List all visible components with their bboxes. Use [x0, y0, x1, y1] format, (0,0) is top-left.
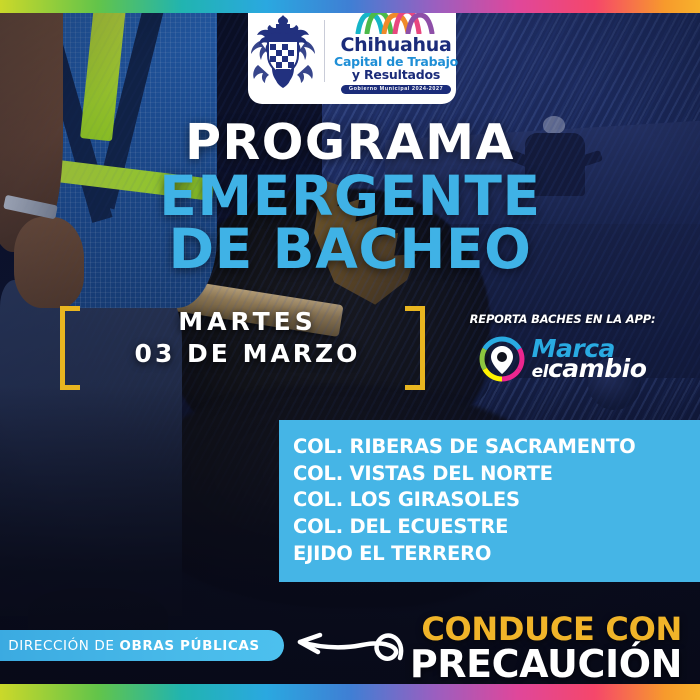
chihuahua-logo-card: Chihuahua Capital de Trabajo y Resultado… — [248, 0, 456, 104]
direccion-prefix: DIRECCIÓN DE — [8, 638, 119, 654]
app-name-el: el — [532, 362, 548, 382]
colonias-panel: COL. RIBERAS DE SACRAMENTO COL. VISTAS D… — [279, 420, 700, 582]
caution-line-2: PRECAUCIÓN — [410, 647, 682, 681]
list-item: EJIDO EL TERRERO — [293, 541, 700, 568]
date-weekday: MARTES — [100, 308, 395, 336]
date-day-month: 03 DE MARZO — [100, 340, 395, 368]
direccion-bold: OBRAS PÚBLICAS — [119, 638, 259, 654]
logo-divider — [324, 20, 325, 82]
headline-line-2: EMERGENTE — [0, 171, 700, 222]
coat-of-arms-icon — [246, 11, 320, 91]
app-label: REPORTA BACHES EN LA APP: — [465, 312, 660, 326]
location-pin-icon — [479, 336, 525, 382]
page-title: PROGRAMA EMERGENTE DE BACHEO — [0, 120, 700, 274]
headline-line-3: DE BACHEO — [0, 224, 700, 275]
rainbow-strip-top — [0, 0, 700, 13]
list-item: COL. RIBERAS DE SACRAMENTO — [293, 434, 700, 461]
caution-message: CONDUCE CON PRECAUCIÓN — [410, 615, 682, 681]
app-callout: REPORTA BACHES EN LA APP: Marca elcambio — [465, 312, 660, 382]
list-item: COL. LOS GIRASOLES — [293, 487, 700, 514]
app-name-cambio-word: cambio — [548, 354, 646, 383]
headline-line-1: PROGRAMA — [0, 120, 700, 165]
direccion-obras-publicas-badge: DIRECCIÓN DE OBRAS PÚBLICAS — [0, 630, 284, 661]
caution-line-1: CONDUCE CON — [410, 615, 682, 644]
curved-arrow-icon — [282, 618, 407, 680]
direccion-label: DIRECCIÓN DE OBRAS PÚBLICAS — [8, 638, 259, 654]
rainbow-strip-bottom — [0, 684, 700, 700]
date-block: MARTES 03 DE MARZO — [60, 306, 425, 390]
logo-government-label: Gobierno Municipal 2024-2027 — [341, 85, 451, 94]
marca-el-cambio-logo[interactable]: Marca elcambio — [465, 336, 660, 382]
logo-city-name: Chihuahua — [340, 36, 451, 55]
app-name-cambio: elcambio — [532, 358, 647, 381]
bracket-left-icon — [60, 306, 80, 390]
bracket-right-icon — [405, 306, 425, 390]
logo-tagline-2: y Resultados — [352, 69, 440, 82]
date-text: MARTES 03 DE MARZO — [100, 308, 395, 368]
list-item: COL. DEL ECUESTRE — [293, 514, 700, 541]
app-wordmark: Marca elcambio — [532, 338, 647, 380]
chihuahua-wordmark: Chihuahua Capital de Trabajo y Resultado… — [334, 8, 458, 94]
poster-canvas: Chihuahua Capital de Trabajo y Resultado… — [0, 0, 700, 700]
list-item: COL. VISTAS DEL NORTE — [293, 461, 700, 488]
